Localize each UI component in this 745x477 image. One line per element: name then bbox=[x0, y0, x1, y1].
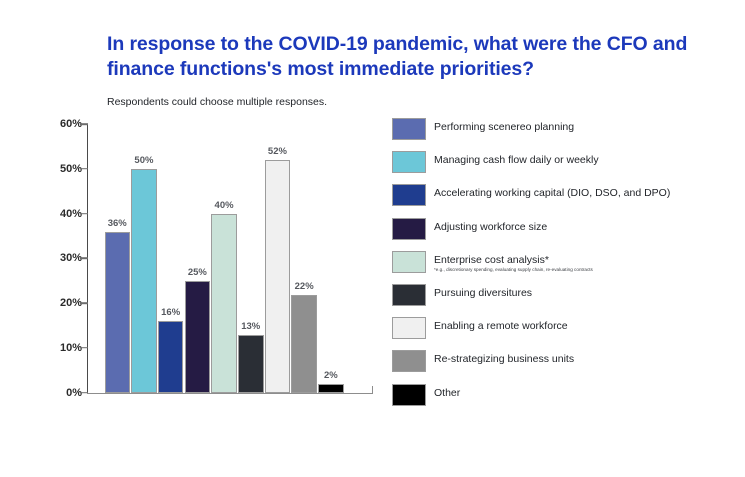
bar[interactable] bbox=[185, 281, 211, 393]
legend-item-label: Performing scenereo planning bbox=[434, 120, 574, 134]
y-axis-tick-mark bbox=[80, 392, 88, 394]
legend-item[interactable]: Other bbox=[392, 382, 722, 415]
bar-value-label: 50% bbox=[131, 155, 157, 166]
legend-item[interactable]: Adjusting workforce size bbox=[392, 216, 722, 249]
bar[interactable] bbox=[158, 321, 184, 393]
bar[interactable] bbox=[211, 214, 237, 393]
legend-color-swatch bbox=[392, 218, 426, 240]
legend-item-label: Managing cash flow daily or weekly bbox=[434, 153, 599, 167]
legend-item[interactable]: Managing cash flow daily or weekly bbox=[392, 149, 722, 182]
legend-footnote: *e.g., discretionary spending, evaluatin… bbox=[434, 266, 593, 273]
legend-item-label: Enabling a remote workforce bbox=[434, 319, 568, 333]
bar-column[interactable]: 25% bbox=[185, 124, 211, 393]
legend-item-label: Pursuing diversitures bbox=[434, 286, 532, 300]
legend-item[interactable]: Re-strategizing business units bbox=[392, 348, 722, 381]
legend-item[interactable]: Accelerating working capital (DIO, DSO, … bbox=[392, 182, 722, 215]
bar-column[interactable]: 40% bbox=[211, 124, 237, 393]
bar-value-label: 36% bbox=[105, 218, 131, 229]
legend-color-swatch bbox=[392, 350, 426, 372]
bar-column[interactable]: 36% bbox=[105, 124, 131, 393]
bar[interactable] bbox=[238, 335, 264, 393]
bar-value-label: 13% bbox=[238, 321, 264, 332]
bar[interactable] bbox=[131, 169, 157, 393]
legend-color-swatch bbox=[392, 184, 426, 206]
bar-column[interactable]: 50% bbox=[131, 124, 157, 393]
bar-column[interactable]: 16% bbox=[158, 124, 184, 393]
legend-item[interactable]: Enterprise cost analysis**e.g., discreti… bbox=[392, 249, 722, 282]
bar-column[interactable]: 52% bbox=[265, 124, 291, 393]
legend-item-label: Accelerating working capital (DIO, DSO, … bbox=[434, 186, 670, 200]
chart-legend: Performing scenereo planningManaging cas… bbox=[392, 116, 722, 415]
legend-color-swatch bbox=[392, 118, 426, 140]
legend-color-swatch bbox=[392, 384, 426, 406]
y-axis-tick-mark bbox=[80, 123, 88, 125]
legend-item[interactable]: Performing scenereo planning bbox=[392, 116, 722, 149]
bar[interactable] bbox=[318, 384, 344, 393]
bar[interactable] bbox=[291, 295, 317, 393]
bar-column[interactable]: 22% bbox=[291, 124, 317, 393]
legend-color-swatch bbox=[392, 284, 426, 306]
y-axis-tick-mark bbox=[80, 257, 88, 259]
legend-color-swatch bbox=[392, 317, 426, 339]
bar-value-label: 2% bbox=[318, 370, 344, 381]
legend-item[interactable]: Pursuing diversitures bbox=[392, 282, 722, 315]
bar-series: 36%50%16%25%40%13%52%22%2% bbox=[0, 0, 400, 477]
legend-item-label: Adjusting workforce size bbox=[434, 220, 547, 234]
bar-value-label: 25% bbox=[185, 267, 211, 278]
legend-item-label: Enterprise cost analysis* bbox=[434, 253, 549, 267]
bar-column[interactable]: 13% bbox=[238, 124, 264, 393]
legend-item[interactable]: Enabling a remote workforce bbox=[392, 315, 722, 348]
bar-column[interactable]: 2% bbox=[318, 124, 344, 393]
legend-color-swatch bbox=[392, 151, 426, 173]
bar-value-label: 40% bbox=[211, 200, 237, 211]
bar[interactable] bbox=[265, 160, 291, 393]
bar-value-label: 22% bbox=[291, 281, 317, 292]
y-axis-tick-mark bbox=[80, 302, 88, 304]
legend-item-label: Re-strategizing business units bbox=[434, 352, 574, 366]
y-axis-tick-mark bbox=[80, 347, 88, 349]
y-axis-tick-mark bbox=[80, 213, 88, 215]
y-axis-tick-mark bbox=[80, 168, 88, 170]
bar-value-label: 16% bbox=[158, 307, 184, 318]
chart-plot-area: 60%50%40%30%20%10%0% 36%50%16%25%40%13%5… bbox=[0, 0, 400, 477]
legend-color-swatch bbox=[392, 251, 426, 273]
bar-value-label: 52% bbox=[265, 146, 291, 157]
bar[interactable] bbox=[105, 232, 131, 393]
legend-item-label: Other bbox=[434, 386, 460, 400]
